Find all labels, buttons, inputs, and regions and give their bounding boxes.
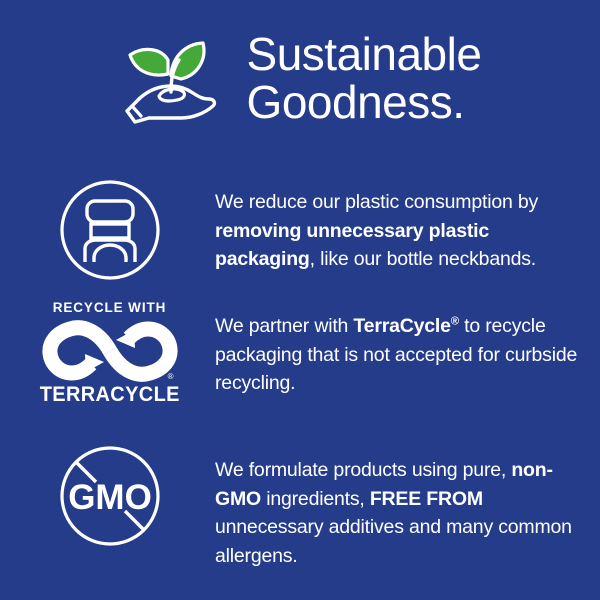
feature-list: We reduce our plastic consumption by rem…: [0, 168, 600, 575]
feature-icon-cell: GMO: [0, 435, 215, 548]
feature-text-cell: We partner with TerraCycle® to recycle p…: [215, 300, 600, 398]
header: Sustainable Goodness.: [0, 26, 600, 130]
feature-text-cell: We formulate products using pure, non-GM…: [215, 435, 600, 570]
terracycle-wordmark: TERRACYCLE: [39, 383, 179, 407]
feature-icon-cell: RECYCLE WITH: [0, 300, 215, 407]
no-gmo-icon: GMO: [58, 444, 162, 548]
feature-text-gmo: We formulate products using pure, non-GM…: [215, 456, 588, 570]
feature-icon-cell: [0, 168, 215, 282]
feature-row-terracycle: RECYCLE WITH: [0, 300, 600, 435]
sustainable-goodness-panel: Sustainable Goodness.: [0, 0, 600, 600]
registered-mark: ®: [168, 373, 174, 381]
terracycle-logo: RECYCLE WITH: [40, 300, 180, 407]
gmo-label: GMO: [68, 478, 152, 517]
feature-text-plastic: We reduce our plastic consumption by rem…: [215, 188, 588, 274]
hand-holding-sprout-icon: [119, 26, 229, 130]
feature-text-terracycle: We partner with TerraCycle® to recycle p…: [215, 312, 588, 398]
page-title: Sustainable Goodness.: [247, 30, 482, 126]
infinity-recycle-arrows-icon: ®: [40, 320, 180, 382]
feature-text-cell: We reduce our plastic consumption by rem…: [215, 168, 600, 274]
feature-row-gmo: GMO We formulate products using pure, no…: [0, 435, 600, 575]
terracycle-top-text: RECYCLE WITH: [53, 300, 167, 316]
bottle-neckband-icon: [58, 178, 162, 282]
feature-row-plastic: We reduce our plastic consumption by rem…: [0, 168, 600, 300]
